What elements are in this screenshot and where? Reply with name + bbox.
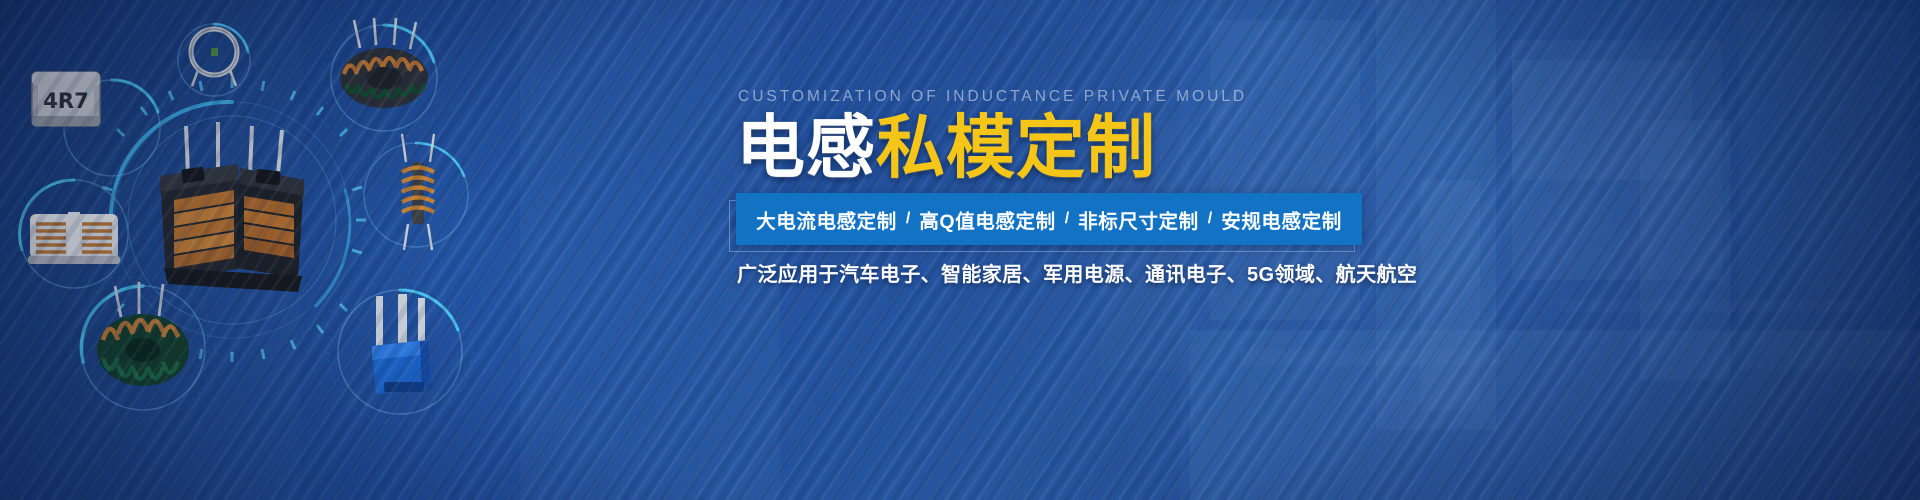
banner-text-content: CUSTOMIZATION OF INDUCTANCE PRIVATE MOUL… [736,0,1836,500]
feature-bar: 大电流电感定制 / 高Q值电感定制 / 非标尺寸定制 / 安规电感定制 [736,193,1362,245]
banner-eyebrow-english: CUSTOMIZATION OF INDUCTANCE PRIVATE MOUL… [738,88,1247,106]
feature-item-3: 非标尺寸定制 [1078,205,1199,234]
product-artwork: 4R7 [0,0,720,500]
inductance-banner: 4R7 [0,0,1920,500]
headline-white-part: 电感 [736,108,876,188]
product-bobbin-coil [28,212,120,264]
feature-item-1: 大电流电感定制 [756,205,897,234]
feature-item-2: 高Q值电感定制 [919,205,1055,234]
feature-bar-wrapper: 大电流电感定制 / 高Q值电感定制 / 非标尺寸定制 / 安规电感定制 [736,193,1362,245]
svg-text:4R7: 4R7 [43,89,88,113]
feature-separator-1: / [897,210,919,228]
headline-gold-part: 私模定制 [876,108,1156,188]
feature-separator-2: / [1056,210,1078,228]
banner-headline: 电感私模定制 [736,110,1156,186]
tech-ring-graphics: 4R7 [0,0,720,500]
feature-separator-3: / [1199,210,1221,228]
product-rod-choke [402,134,434,250]
product-toroid-choke-top [340,18,428,108]
banner-description: 广泛应用于汽车电子、智能家居、军用电源、通讯电子、5G领域、航天航空 [737,258,1417,287]
feature-item-4: 安规电感定制 [1221,205,1342,234]
product-air-coil [191,29,237,86]
product-main-transformer [160,122,304,292]
product-blue-radial-inductor [372,294,432,394]
product-smd-inductor: 4R7 [32,72,100,126]
